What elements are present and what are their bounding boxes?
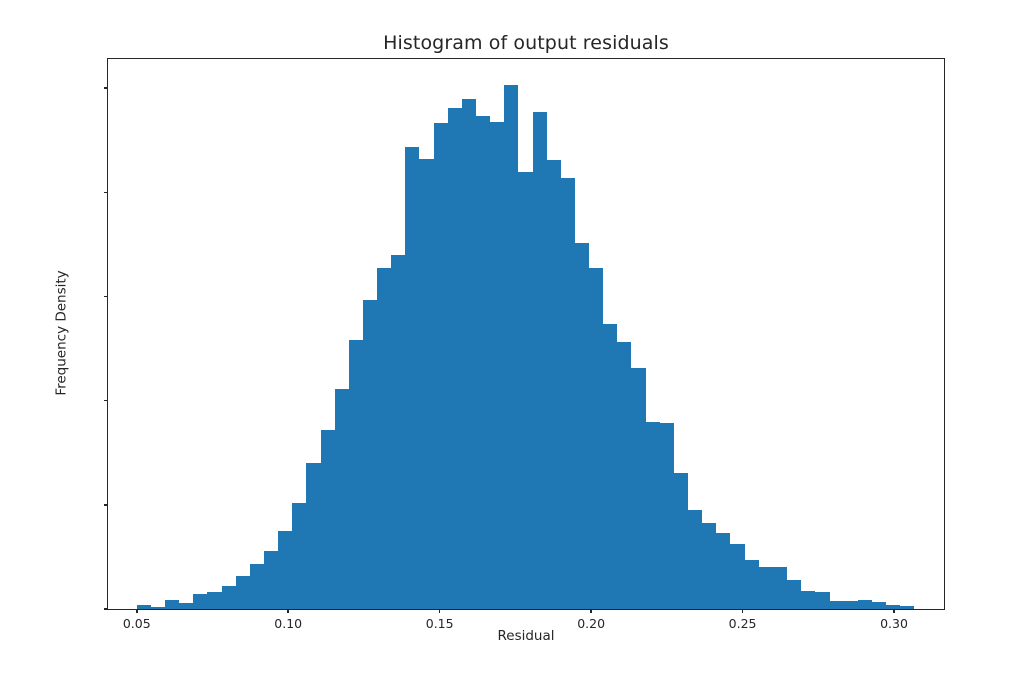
histogram-bar	[292, 503, 306, 609]
histogram-bar	[419, 159, 433, 609]
histogram-bar	[207, 592, 221, 609]
histogram-bar	[702, 523, 716, 609]
x-tick-mark	[136, 609, 138, 613]
histogram-bar	[278, 531, 292, 609]
histogram-bar	[179, 603, 193, 609]
histogram-bar	[745, 560, 759, 609]
histogram-bar	[631, 368, 645, 609]
histogram-bar	[787, 580, 801, 609]
histogram-bar	[137, 605, 151, 609]
histogram-bar	[236, 576, 250, 609]
histogram-bar	[151, 607, 165, 609]
histogram-bar	[688, 510, 702, 609]
histogram-bar	[193, 594, 207, 609]
histogram-bar	[462, 99, 476, 609]
histogram-bar	[335, 389, 349, 609]
y-tick-mark	[104, 296, 108, 298]
histogram-bar	[321, 430, 335, 609]
page-title: Histogram of output residuals	[107, 32, 945, 54]
histogram-bar	[900, 606, 914, 609]
histogram-bar	[547, 160, 561, 609]
histogram-bar	[603, 324, 617, 609]
histogram-bar	[391, 255, 405, 609]
x-tick-mark	[893, 609, 895, 613]
histogram-bar	[533, 112, 547, 609]
histogram-bar	[306, 463, 320, 609]
histogram-bar	[448, 108, 462, 609]
histogram-bar	[377, 268, 391, 609]
histogram-bar	[434, 123, 448, 609]
histogram-bar	[830, 601, 844, 609]
y-tick-mark	[104, 400, 108, 402]
histogram-plot-area	[108, 59, 944, 609]
x-tick-mark	[287, 609, 289, 613]
x-axis-label: Residual	[107, 628, 945, 644]
histogram-bar	[716, 533, 730, 609]
histogram-bar	[589, 268, 603, 609]
histogram-bar	[617, 342, 631, 609]
histogram-bar	[815, 592, 829, 609]
histogram-bar	[843, 601, 857, 609]
histogram-bar	[363, 300, 377, 609]
histogram-bar	[575, 243, 589, 609]
histogram-bar	[872, 602, 886, 609]
y-tick-mark	[104, 608, 108, 610]
histogram-bar	[759, 567, 773, 609]
figure-canvas: Histogram of output residuals 0100200300…	[0, 0, 1032, 680]
x-tick-mark	[590, 609, 592, 613]
y-tick-mark	[104, 192, 108, 194]
histogram-bar	[490, 122, 504, 610]
histogram-bar	[264, 551, 278, 609]
histogram-bar	[222, 586, 236, 609]
y-tick-mark	[104, 87, 108, 89]
histogram-bar	[801, 591, 815, 609]
histogram-bar	[730, 544, 744, 609]
y-tick-mark	[104, 504, 108, 506]
histogram-bar	[561, 178, 575, 609]
histogram-bar	[349, 340, 363, 609]
histogram-bar	[165, 600, 179, 609]
histogram-bar	[250, 564, 264, 609]
histogram-bar	[858, 600, 872, 609]
histogram-bar	[476, 116, 490, 609]
histogram-bar	[646, 422, 660, 610]
chart-axes: 01002003004005000.050.100.150.200.250.30	[107, 58, 945, 610]
histogram-bar	[405, 147, 419, 610]
histogram-bar	[660, 423, 674, 609]
y-axis-label: Frequency Density	[53, 270, 69, 395]
x-tick-mark	[439, 609, 441, 613]
histogram-bar	[504, 85, 518, 609]
histogram-bar	[773, 567, 787, 609]
histogram-bar	[518, 172, 532, 610]
x-tick-mark	[742, 609, 744, 613]
histogram-bar	[674, 473, 688, 609]
